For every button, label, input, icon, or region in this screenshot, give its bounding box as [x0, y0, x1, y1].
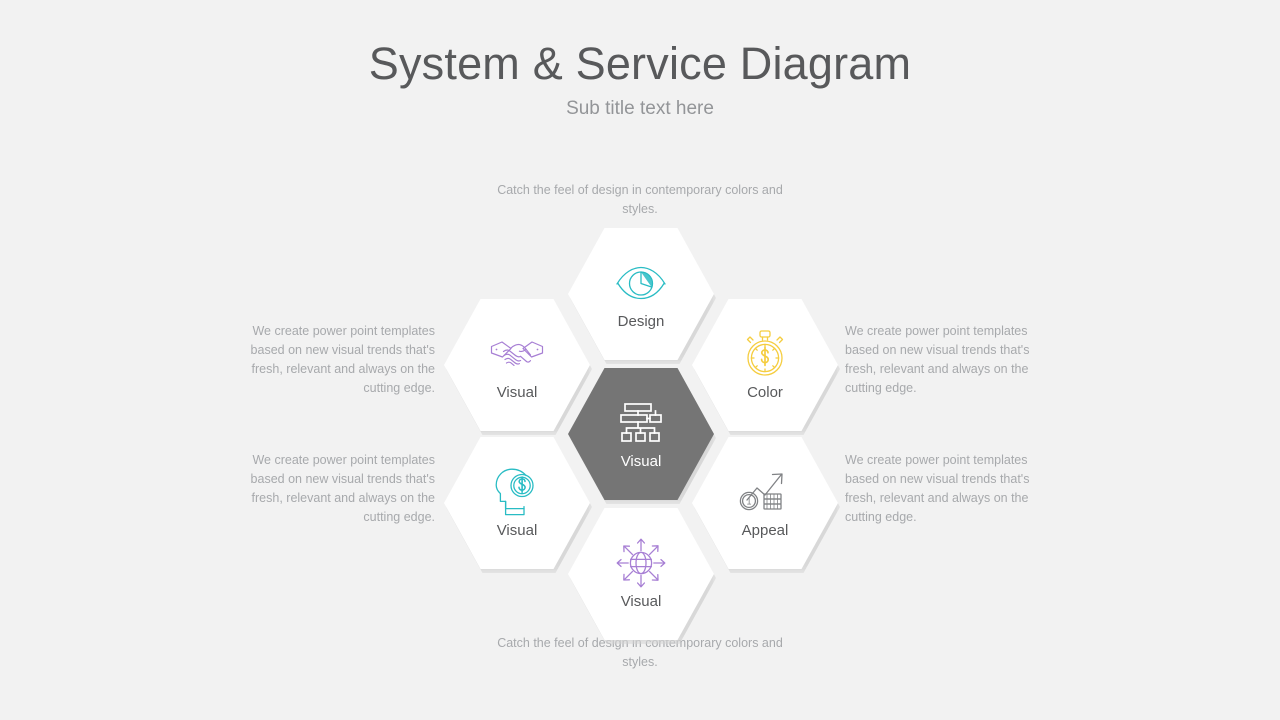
caption-top: Catch the feel of design in contemporary…: [490, 181, 790, 219]
head-dollar-coin-icon: [489, 466, 545, 518]
caption-left-upper: We create power point templates based on…: [229, 322, 435, 398]
growth-arrow-coins-icon: 1: [737, 466, 793, 518]
eye-pie-chart-icon: [613, 257, 669, 309]
hexagon-diagram: Catch the feel of design in contemporary…: [0, 0, 1280, 720]
globe-arrows-icon: [613, 537, 669, 589]
caption-left-lower: We create power point templates based on…: [229, 451, 435, 527]
handshake-icon: [489, 328, 545, 380]
hexagon-label: Visual: [497, 384, 538, 402]
svg-text:1: 1: [746, 497, 751, 507]
caption-right-lower: We create power point templates based on…: [845, 451, 1057, 527]
hexagon-label: Color: [747, 384, 783, 402]
org-chart-icon: [613, 397, 669, 449]
stopwatch-dollar-icon: [737, 328, 793, 380]
hexagon-label: Visual: [497, 522, 538, 540]
hexagon-label: Appeal: [742, 522, 789, 540]
hexagon-label: Design: [618, 313, 665, 331]
hexagon-label: Visual: [621, 453, 662, 471]
caption-right-upper: We create power point templates based on…: [845, 322, 1057, 398]
hexagon-label: Visual: [621, 593, 662, 611]
